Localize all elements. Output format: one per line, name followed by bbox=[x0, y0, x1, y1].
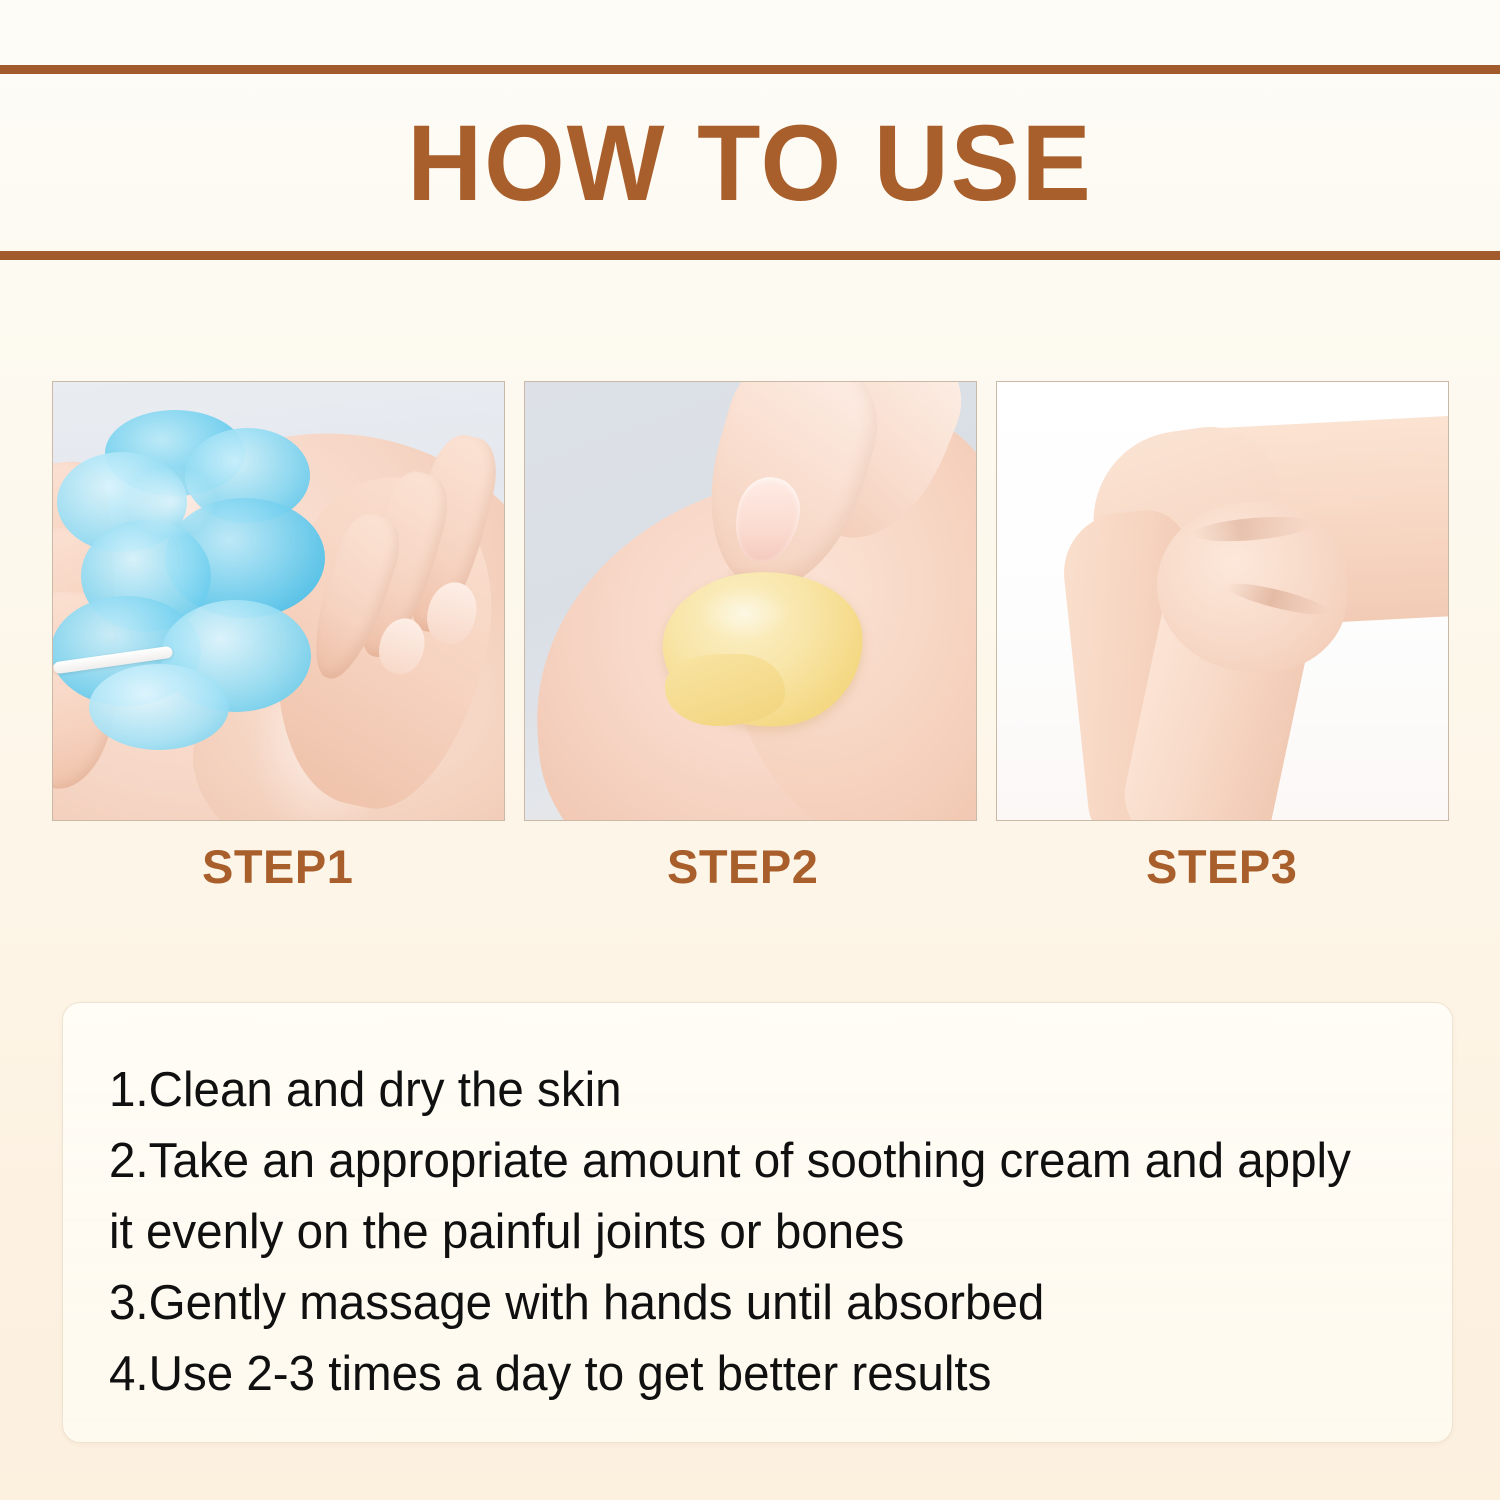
blue-loofah-sponge bbox=[65, 410, 335, 740]
loofah-highlight bbox=[125, 466, 217, 538]
step-card-2: STEP2 bbox=[524, 381, 977, 890]
instruction-line: 4.Use 2-3 times a day to get better resu… bbox=[109, 1339, 1367, 1410]
page-title: HOW TO USE bbox=[407, 109, 1092, 217]
step-label-2: STEP2 bbox=[524, 843, 977, 890]
instruction-line: 3.Gently massage with hands until absorb… bbox=[109, 1268, 1367, 1339]
cream-highlight bbox=[700, 587, 790, 639]
instruction-line: it evenly on the painful joints or bones bbox=[109, 1197, 1367, 1268]
step-card-1: STEP1 bbox=[52, 381, 505, 890]
instruction-line: 2.Take an appropriate amount of soothing… bbox=[109, 1126, 1367, 1197]
steps-row: STEP1 STEP2 STEP3 bbox=[52, 381, 1449, 890]
instructions-panel: 1.Clean and dry the skin 2.Take an appro… bbox=[62, 1002, 1453, 1443]
step1-photo-loofah-washing bbox=[52, 381, 505, 821]
step-label-3: STEP3 bbox=[996, 843, 1449, 890]
step2-photo-cream-application bbox=[524, 381, 977, 821]
yellow-cream-smear bbox=[665, 654, 785, 726]
step-card-3: STEP3 bbox=[996, 381, 1449, 890]
step3-photo-smooth-legs bbox=[996, 381, 1449, 821]
instruction-line: 1.Clean and dry the skin bbox=[109, 1055, 1367, 1126]
page-header: HOW TO USE bbox=[0, 65, 1500, 260]
loofah-petal bbox=[89, 664, 229, 750]
step-label-1: STEP1 bbox=[52, 843, 505, 890]
